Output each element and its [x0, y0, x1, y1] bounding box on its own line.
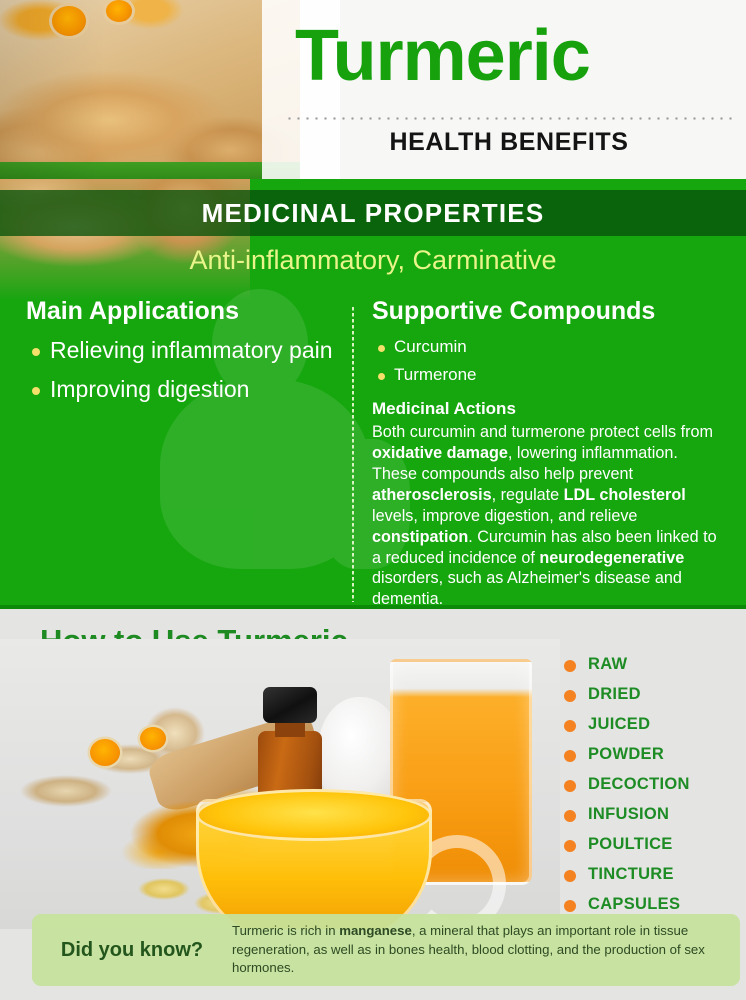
- turmeric-slice-icon: [90, 739, 120, 766]
- photo-shading: [0, 0, 300, 180]
- list-item-dried: DRIED: [562, 685, 746, 704]
- did-you-know-box: Did you know? Turmeric is rich in mangan…: [32, 914, 740, 986]
- infographic-page: Turmeric HEALTH BENEFITS MEDICINAL PROPE…: [0, 0, 746, 1000]
- header-section: Turmeric HEALTH BENEFITS: [0, 0, 746, 180]
- supportive-compounds-column: Supportive Compounds Curcumin Turmerone …: [372, 297, 720, 609]
- turmeric-products-photo: [0, 639, 560, 929]
- medicinal-properties-section: MEDICINAL PROPERTIES Anti-inflammatory, …: [0, 179, 746, 609]
- list-item-raw: RAW: [562, 655, 746, 674]
- page-title: Turmeric: [295, 16, 735, 96]
- supportive-compounds-heading: Supportive Compounds: [372, 297, 720, 326]
- section-band-title: MEDICINAL PROPERTIES: [0, 190, 746, 236]
- usage-methods-list: RAW DRIED JUICED POWDER DECOCTION INFUSI…: [562, 655, 746, 925]
- turmeric-slice-icon: [140, 727, 166, 750]
- column-divider: [352, 307, 354, 602]
- dotted-divider: [285, 117, 733, 120]
- did-you-know-text: Turmeric is rich in manganese, a mineral…: [232, 922, 740, 978]
- list-item: Curcumin: [372, 336, 720, 358]
- medicinal-actions-heading: Medicinal Actions: [372, 399, 720, 419]
- list-item: Turmerone: [372, 364, 720, 386]
- turmeric-root-photo: [0, 0, 300, 180]
- list-item-decoction: DECOCTION: [562, 775, 746, 794]
- tea-surface: [196, 789, 432, 841]
- main-applications-column: Main Applications Relieving inflammatory…: [26, 297, 342, 414]
- list-item-infusion: INFUSION: [562, 805, 746, 824]
- list-item-juiced: JUICED: [562, 715, 746, 734]
- list-item: Improving digestion: [26, 375, 342, 403]
- dropper-cap-icon: [263, 687, 317, 723]
- main-applications-list: Relieving inflammatory pain Improving di…: [26, 336, 342, 403]
- list-item: Relieving inflammatory pain: [26, 336, 342, 364]
- did-you-know-label: Did you know?: [32, 939, 232, 962]
- list-item-tincture: TINCTURE: [562, 865, 746, 884]
- section-tagline: Anti-inflammatory, Carminative: [0, 245, 746, 276]
- page-subtitle: HEALTH BENEFITS: [285, 128, 733, 157]
- supportive-compounds-list: Curcumin Turmerone: [372, 336, 720, 386]
- medicinal-actions-text: Both curcumin and turmerone protect cell…: [372, 422, 720, 609]
- list-item-capsules: CAPSULES: [562, 895, 746, 914]
- main-applications-heading: Main Applications: [26, 297, 342, 326]
- list-item-poultice: POULTICE: [562, 835, 746, 854]
- list-item-powder: POWDER: [562, 745, 746, 764]
